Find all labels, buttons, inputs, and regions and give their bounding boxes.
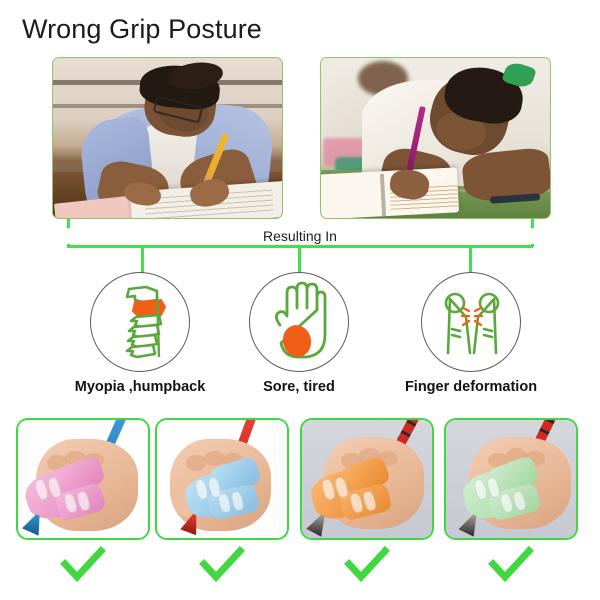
girl-writing-photo — [320, 57, 551, 219]
pink-grip-card[interactable] — [16, 418, 150, 540]
check-icon — [344, 546, 390, 586]
green-grip-card[interactable] — [444, 418, 578, 540]
hand-circle — [249, 272, 349, 372]
consequence-label: Finger deformation — [371, 379, 571, 395]
card-frame — [155, 418, 289, 540]
checkmark-4 — [444, 546, 578, 592]
page-title: Wrong Grip Posture — [22, 14, 262, 45]
resulting-in-text: Resulting In — [253, 228, 347, 244]
blue-grip-card[interactable] — [155, 418, 289, 540]
finger-circle — [421, 272, 521, 372]
consequences-row: Myopia ,humpback Sore, tired — [0, 272, 600, 402]
card-frame — [300, 418, 434, 540]
checkmark-2 — [155, 546, 289, 592]
checkmark-1 — [16, 546, 150, 592]
infographic-root: Wrong Grip Posture — [0, 0, 600, 600]
spine-icon — [91, 273, 191, 373]
check-icon — [60, 546, 106, 586]
resulting-in-label: Resulting In — [0, 228, 600, 244]
hand-icon — [250, 273, 350, 373]
boy-writing-photo — [52, 57, 283, 219]
card-frame — [16, 418, 150, 540]
orange-grip-card[interactable] — [300, 418, 434, 540]
product-cards-row — [0, 418, 600, 600]
consequence-sore-tired: Sore, tired — [199, 272, 399, 395]
checkmark-3 — [300, 546, 434, 592]
check-icon — [199, 546, 245, 586]
finger-icon — [422, 273, 522, 373]
consequence-label: Sore, tired — [199, 379, 399, 395]
card-frame — [444, 418, 578, 540]
check-icon — [488, 546, 534, 586]
spine-circle — [90, 272, 190, 372]
consequence-finger-deformation: Finger deformation — [371, 272, 571, 395]
